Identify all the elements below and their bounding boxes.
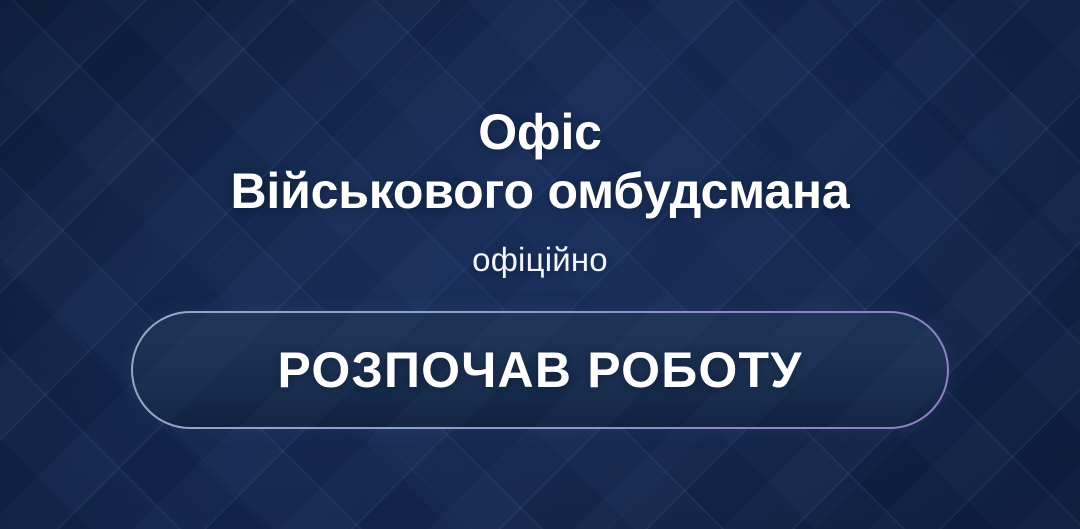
announcement-banner: Офіс Військового омбудсмана офіційно РОЗ… (0, 0, 1080, 529)
status-pill-inner: РОЗПОЧАВ РОБОТУ (133, 313, 948, 428)
status-pill[interactable]: РОЗПОЧАВ РОБОТУ (131, 311, 949, 429)
headline-line-1: Офіс (478, 104, 602, 161)
status-pill-label: РОЗПОЧАВ РОБОТУ (277, 341, 802, 399)
banner-content: Офіс Військового омбудсмана офіційно РОЗ… (0, 0, 1080, 529)
subtitle: офіційно (472, 241, 608, 279)
headline-line-2: Військового омбудсмана (230, 163, 849, 220)
status-pill-wrapper: РОЗПОЧАВ РОБОТУ (131, 311, 949, 429)
